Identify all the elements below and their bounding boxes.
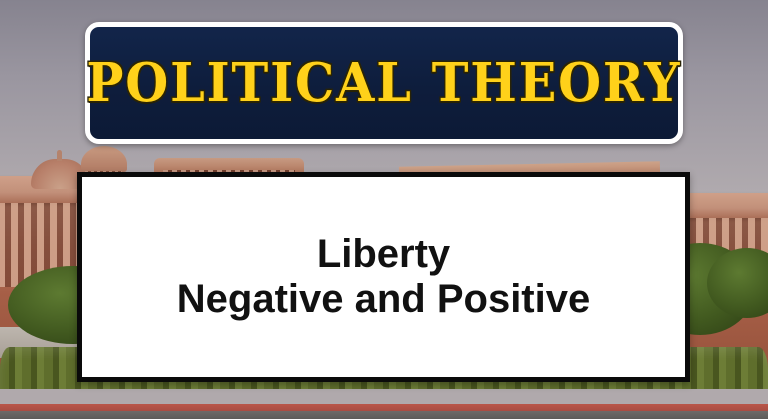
content-heading-line-1: Liberty: [317, 232, 450, 277]
road: [0, 404, 768, 419]
slide-canvas: POLITICAL THEORY Liberty Negative and Po…: [0, 0, 768, 419]
content-heading-line-2: Negative and Positive: [177, 277, 590, 322]
dome-finial-icon: [57, 150, 62, 161]
page-title: POLITICAL THEORY: [87, 57, 682, 110]
title-banner: POLITICAL THEORY: [85, 22, 683, 144]
content-card: Liberty Negative and Positive: [77, 172, 690, 382]
